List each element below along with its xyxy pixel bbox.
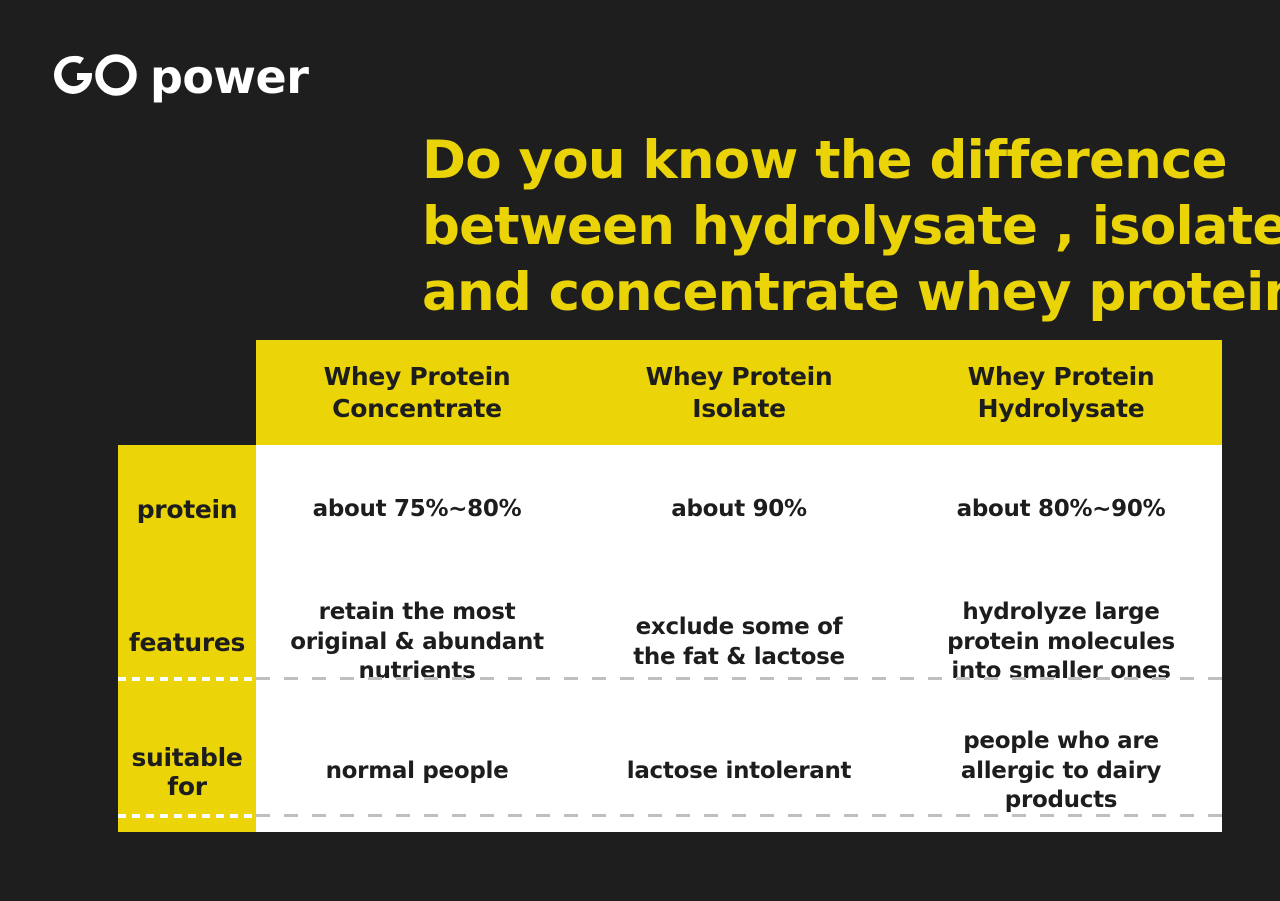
cell-line: original & abundant	[290, 628, 544, 658]
column-header-line-2: Isolate	[692, 393, 786, 425]
cell-line: the fat & lactose	[633, 643, 845, 673]
table-column-header-isolate: Whey Protein Isolate	[578, 340, 900, 445]
row-label-line: suitable	[131, 743, 242, 772]
cell-line: people who are	[961, 727, 1161, 757]
cell-suitable-concentrate: normal people	[256, 711, 578, 832]
cell-line: allergic to dairy	[961, 757, 1161, 787]
column-header-line-1: Whey Protein	[324, 361, 511, 393]
comparison-table: Whey Protein Concentrate Whey Protein Is…	[118, 340, 1222, 832]
row-label-suitable-for: suitable for	[118, 711, 256, 832]
cell-features-concentrate: retain the most original & abundant nutr…	[256, 574, 578, 711]
cell-line: into smaller ones	[947, 657, 1175, 687]
column-header-line-2: Hydrolysate	[978, 393, 1145, 425]
title-line-1: Do you know the difference	[422, 128, 1212, 194]
cell-line: about 80%~90%	[957, 495, 1166, 525]
cell-suitable-hydrolysate: people who are allergic to dairy product…	[900, 711, 1222, 832]
table-row: protein about 75%~80% about 90% about 80…	[118, 445, 1222, 574]
column-header-line-2: Concentrate	[332, 393, 502, 425]
cell-line: products	[961, 786, 1161, 816]
cell-features-hydrolysate: hydrolyze large protein molecules into s…	[900, 574, 1222, 711]
cell-protein-hydrolysate: about 80%~90%	[900, 445, 1222, 574]
title-line-3: and concentrate whey protein?	[422, 260, 1212, 326]
cell-line: exclude some of	[633, 613, 845, 643]
row-label-features: features	[118, 574, 256, 711]
cell-line: lactose intolerant	[627, 757, 852, 787]
page-title: Do you know the difference between hydro…	[422, 128, 1212, 327]
table-row: suitable for normal people lactose intol…	[118, 711, 1222, 832]
cell-line: about 75%~80%	[313, 495, 522, 525]
cell-protein-concentrate: about 75%~80%	[256, 445, 578, 574]
table-header-row: Whey Protein Concentrate Whey Protein Is…	[256, 340, 1222, 445]
row-label-line: for	[167, 772, 206, 801]
cell-suitable-isolate: lactose intolerant	[578, 711, 900, 832]
cell-protein-isolate: about 90%	[578, 445, 900, 574]
cell-features-isolate: exclude some of the fat & lactose	[578, 574, 900, 711]
go-ring-logomark	[50, 52, 146, 103]
cell-line: hydrolyze large	[947, 598, 1175, 628]
cell-line: nutrients	[290, 657, 544, 687]
brand-wordmark: power	[150, 54, 308, 100]
title-line-2: between hydrolysate , isolate,	[422, 194, 1212, 260]
column-header-line-1: Whey Protein	[646, 361, 833, 393]
cell-line: protein molecules	[947, 628, 1175, 658]
row-label-protein: protein	[118, 445, 256, 574]
cell-line: normal people	[326, 757, 509, 787]
cell-line: about 90%	[671, 495, 807, 525]
table-column-header-hydrolysate: Whey Protein Hydrolysate	[900, 340, 1222, 445]
column-header-line-1: Whey Protein	[968, 361, 1155, 393]
table-row: features retain the most original & abun…	[118, 574, 1222, 711]
table-column-header-concentrate: Whey Protein Concentrate	[256, 340, 578, 445]
table-body: protein about 75%~80% about 90% about 80…	[118, 445, 1222, 832]
cell-line: retain the most	[290, 598, 544, 628]
brand-logo: power	[50, 50, 308, 104]
